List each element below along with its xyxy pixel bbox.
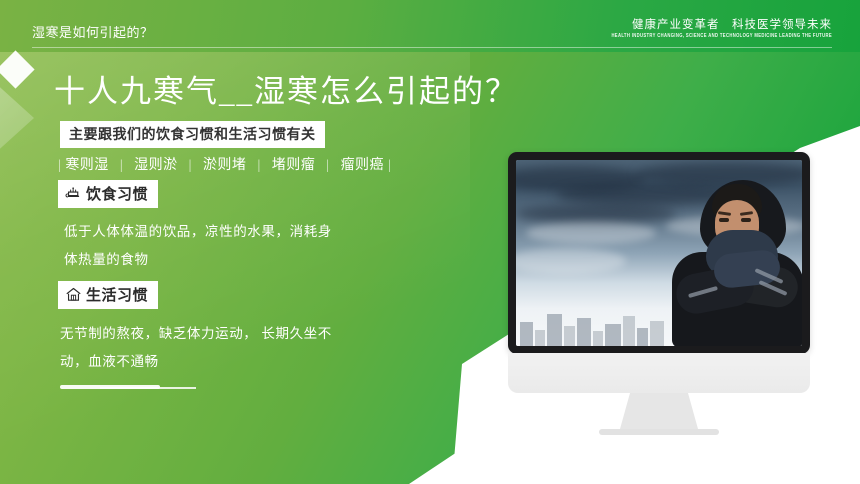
chain-separator: | [113,158,130,173]
section-tag-diet: 饮食习惯 [58,180,158,208]
chain-item: 湿则淤 [134,158,178,173]
body-line: 体热量的食物 [64,246,332,274]
monitor-chin [508,353,810,393]
chain-separator: | [250,158,267,173]
photo-person [658,178,802,346]
section-body-lifestyle: 无节制的熬夜，缺乏体力运动， 长期久坐不 动，血液不通畅 [60,320,332,376]
monitor-mockup [508,152,810,435]
page-title: 十人九寒气__湿寒怎么引起的？ [54,66,518,111]
chain-item: 寒则湿 [65,158,109,173]
header-section-label: 湿寒是如何引起的？ [32,22,154,41]
body-line: 低于人体体温的饮品，凉性的水果，消耗身 [64,218,332,246]
food-icon [65,185,82,202]
chain-item: 堵则瘤 [272,158,316,173]
monitor-stand-base [599,429,719,435]
chain-item: 淤则堵 [203,158,247,173]
monitor-bezel [508,152,810,354]
brand-slogan-cn: 健康产业变革者 科技医学领导未来 [611,18,832,32]
section-tag-lifestyle: 生活习惯 [58,281,158,309]
body-line: 动，血液不通畅 [60,348,332,376]
chain-edge-right: | [388,158,391,173]
section-tag-label: 饮食习惯 [86,183,148,204]
slide-root: 湿寒是如何引起的？ 健康产业变革者 科技医学领导未来 HEALTH INDUST… [0,0,860,484]
header-divider [32,47,832,48]
cloud-light [526,222,656,244]
chain-edge-left: | [58,158,61,173]
chain-item: 瘤则癌 [341,158,385,173]
house-icon [65,286,82,303]
brand-block: 健康产业变革者 科技医学领导未来 HEALTH INDUSTRY CHANGIN… [611,18,832,38]
brand-slogan-en: HEALTH INDUSTRY CHANGING, SCIENCE AND TE… [611,32,832,39]
underline-decoration-thin [100,387,196,389]
chain-separator: | [319,158,336,173]
lead-statement: 主要跟我们的饮食习惯和生活习惯有关 [60,121,325,148]
progression-chain: | 寒则湿 | 湿则淤 | 淤则堵 | 堵则瘤 | 瘤则癌 | [58,154,391,174]
body-line: 无节制的熬夜，缺乏体力运动， 长期久坐不 [60,320,332,348]
cloud-dark [516,204,676,224]
section-tag-label: 生活习惯 [86,284,148,305]
monitor-screen [516,160,802,346]
chain-separator: | [182,158,199,173]
section-body-diet: 低于人体体温的饮品，凉性的水果，消耗身 体热量的食物 [64,218,332,274]
monitor-stand-neck [620,393,698,429]
